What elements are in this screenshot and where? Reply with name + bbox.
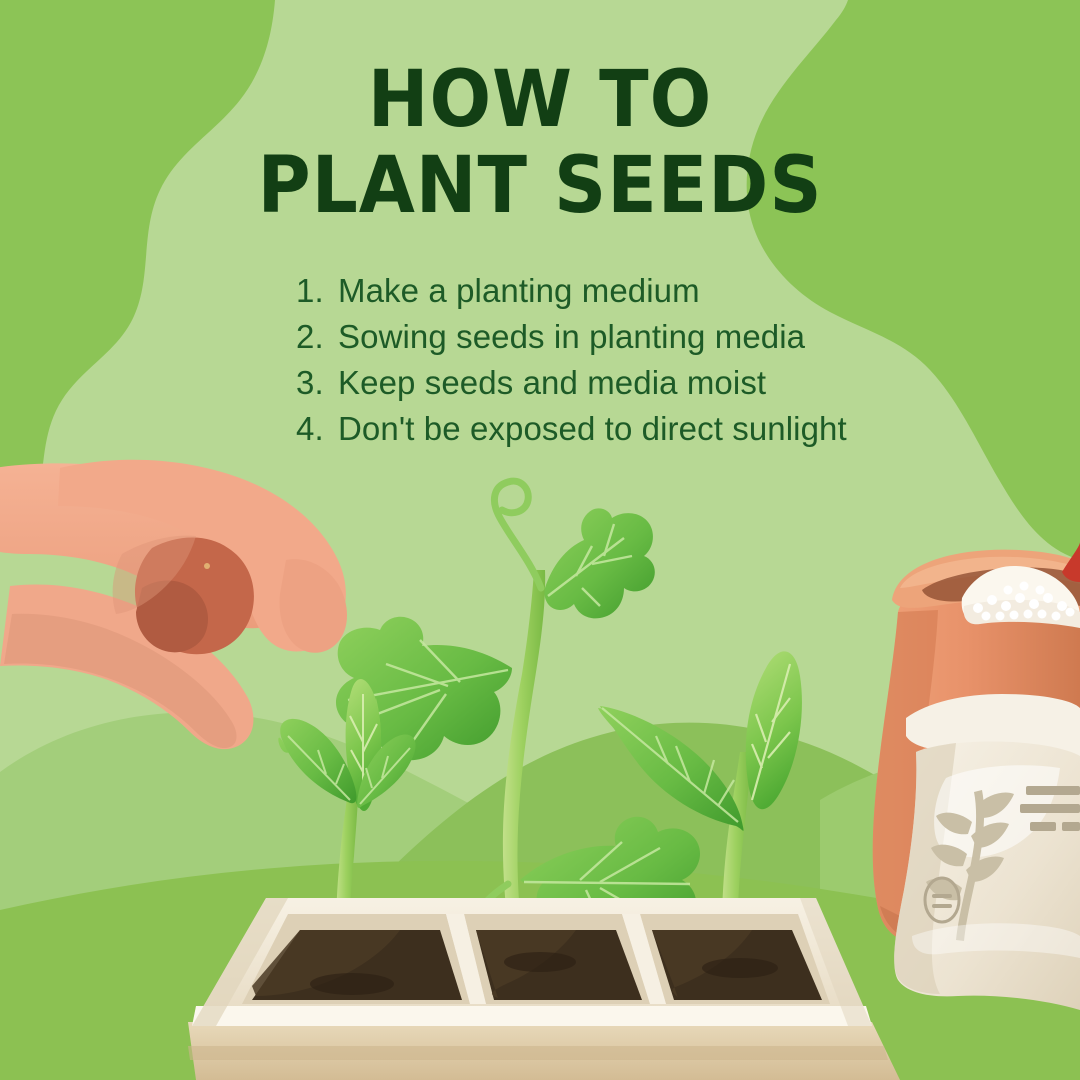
step-number: 3. bbox=[296, 360, 338, 406]
list-item: 2. Sowing seeds in planting media bbox=[296, 314, 916, 360]
step-number: 1. bbox=[296, 268, 338, 314]
title-line-1: HOW TO bbox=[38, 62, 1042, 138]
step-text: Sowing seeds in planting media bbox=[338, 314, 916, 360]
list-item: 4. Don't be exposed to direct sunlight bbox=[296, 406, 916, 452]
text-layer: HOW TO PLANT SEEDS 1. Make a planting me… bbox=[0, 0, 1080, 1080]
title-line-2: PLANT SEEDS bbox=[38, 148, 1042, 224]
step-text: Keep seeds and media moist bbox=[338, 360, 916, 406]
step-text: Make a planting medium bbox=[338, 268, 916, 314]
list-item: 3. Keep seeds and media moist bbox=[296, 360, 916, 406]
page-title: HOW TO PLANT SEEDS bbox=[0, 62, 1080, 225]
step-text: Don't be exposed to direct sunlight bbox=[338, 406, 916, 452]
step-number: 4. bbox=[296, 406, 338, 452]
infographic-canvas: HOW TO PLANT SEEDS 1. Make a planting me… bbox=[0, 0, 1080, 1080]
list-item: 1. Make a planting medium bbox=[296, 268, 916, 314]
steps-list: 1. Make a planting medium 2. Sowing seed… bbox=[296, 268, 916, 452]
step-number: 2. bbox=[296, 314, 338, 360]
